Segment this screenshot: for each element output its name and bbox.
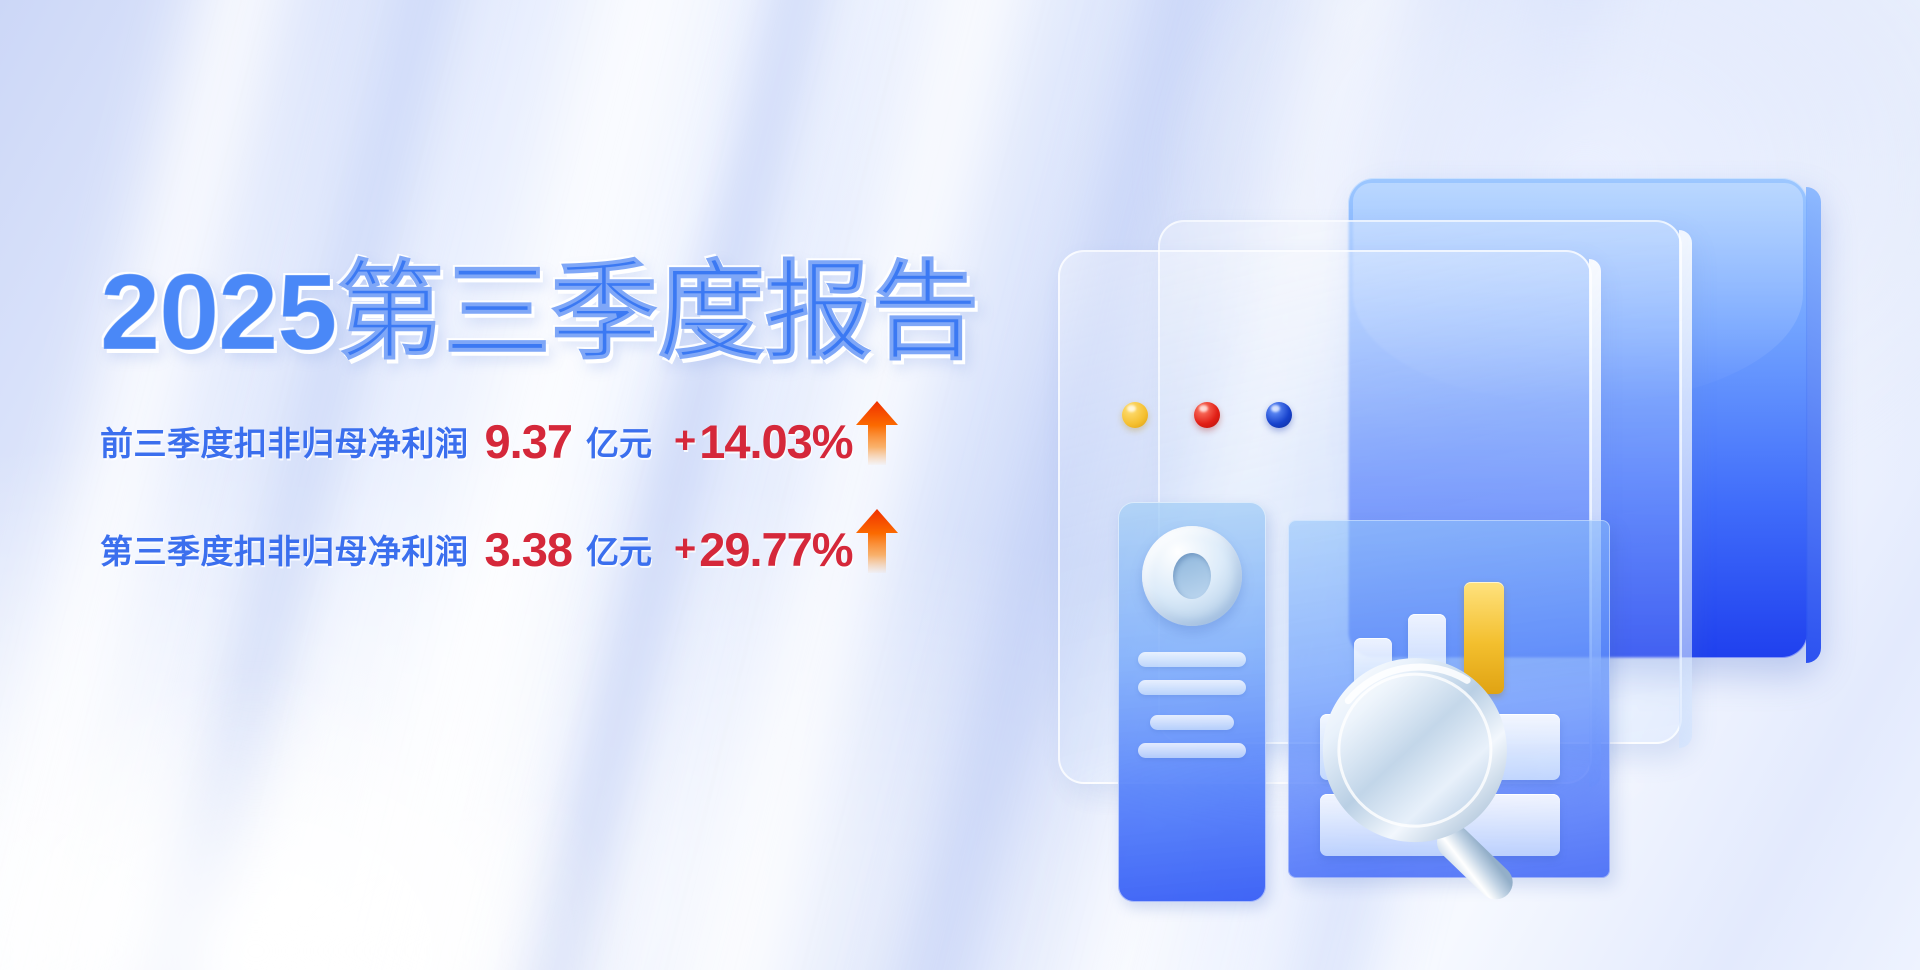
page-title-year: 2025 — [100, 251, 336, 372]
stat-plus-sign: + — [674, 528, 696, 571]
sidebar-line — [1150, 715, 1234, 730]
sidebar-line — [1138, 743, 1246, 758]
text-column: 2025第三季度报告 前三季度扣非归母净利润 9.37 亿元 + 14.03% — [100, 258, 1040, 590]
traffic-dot-red — [1194, 402, 1220, 428]
sidebar-line — [1138, 652, 1246, 667]
stat-unit: 亿元 — [586, 525, 652, 573]
arrow-up-icon — [855, 400, 899, 466]
page-title-rest: 第三季度报告 — [336, 251, 978, 372]
traffic-dot-yellow — [1122, 402, 1148, 428]
glass-card-front — [1058, 250, 1592, 784]
stat-row: 前三季度扣非归母净利润 9.37 亿元 + 14.03% — [100, 400, 1040, 482]
stat-label: 前三季度扣非归母净利润 — [100, 417, 469, 465]
traffic-dot-blue — [1266, 402, 1292, 428]
stat-value: 3.38 — [485, 522, 572, 577]
arrow-up-icon — [855, 508, 899, 574]
page-title: 2025第三季度报告 — [100, 258, 1040, 366]
stat-value: 9.37 — [485, 414, 572, 469]
stat-label: 第三季度扣非归母净利润 — [100, 525, 469, 573]
glass-report-window-illustration — [1030, 150, 1860, 850]
sidebar-line — [1138, 680, 1246, 695]
stat-change: 29.77% — [699, 522, 852, 577]
donut-ring-icon — [1142, 526, 1242, 626]
stat-unit: 亿元 — [586, 417, 652, 465]
stat-plus-sign: + — [674, 420, 696, 463]
magnifying-glass-icon — [1322, 652, 1532, 912]
poster-canvas: 2025第三季度报告 前三季度扣非归母净利润 9.37 亿元 + 14.03% — [0, 0, 1920, 970]
illustration-sidebar — [1118, 502, 1266, 902]
stat-change: 14.03% — [699, 414, 852, 469]
window-traffic-dots — [1122, 402, 1292, 428]
background-glow-bottom-left — [0, 641, 666, 970]
stat-row: 第三季度扣非归母净利润 3.38 亿元 + 29.77% — [100, 508, 1040, 590]
